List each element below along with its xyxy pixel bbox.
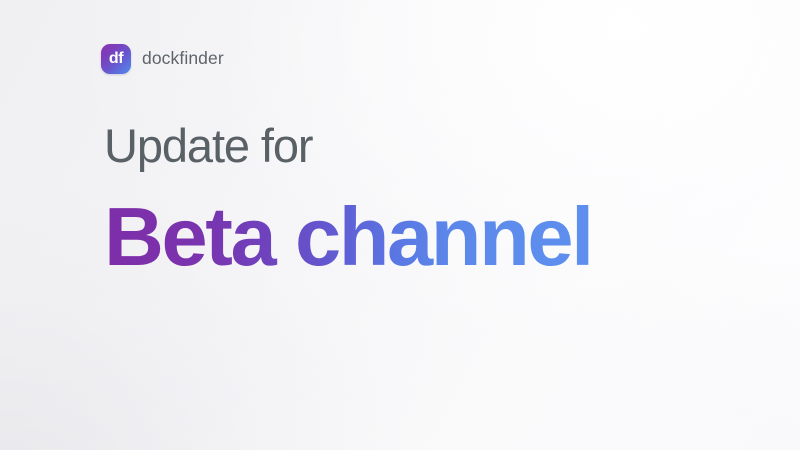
app-icon-monogram: df — [109, 51, 123, 67]
hero-eyebrow: Update for — [104, 122, 592, 169]
hero-text-block: Update for Beta channel — [104, 122, 592, 278]
hero-headline: Beta channel — [104, 195, 592, 278]
announcement-slide: df dockfinder Update for Beta channel — [0, 0, 800, 450]
brand-wordmark: dockfinder — [142, 50, 224, 68]
dockfinder-app-icon: df — [101, 44, 131, 74]
brand-logo-lockup: df dockfinder — [101, 44, 224, 74]
